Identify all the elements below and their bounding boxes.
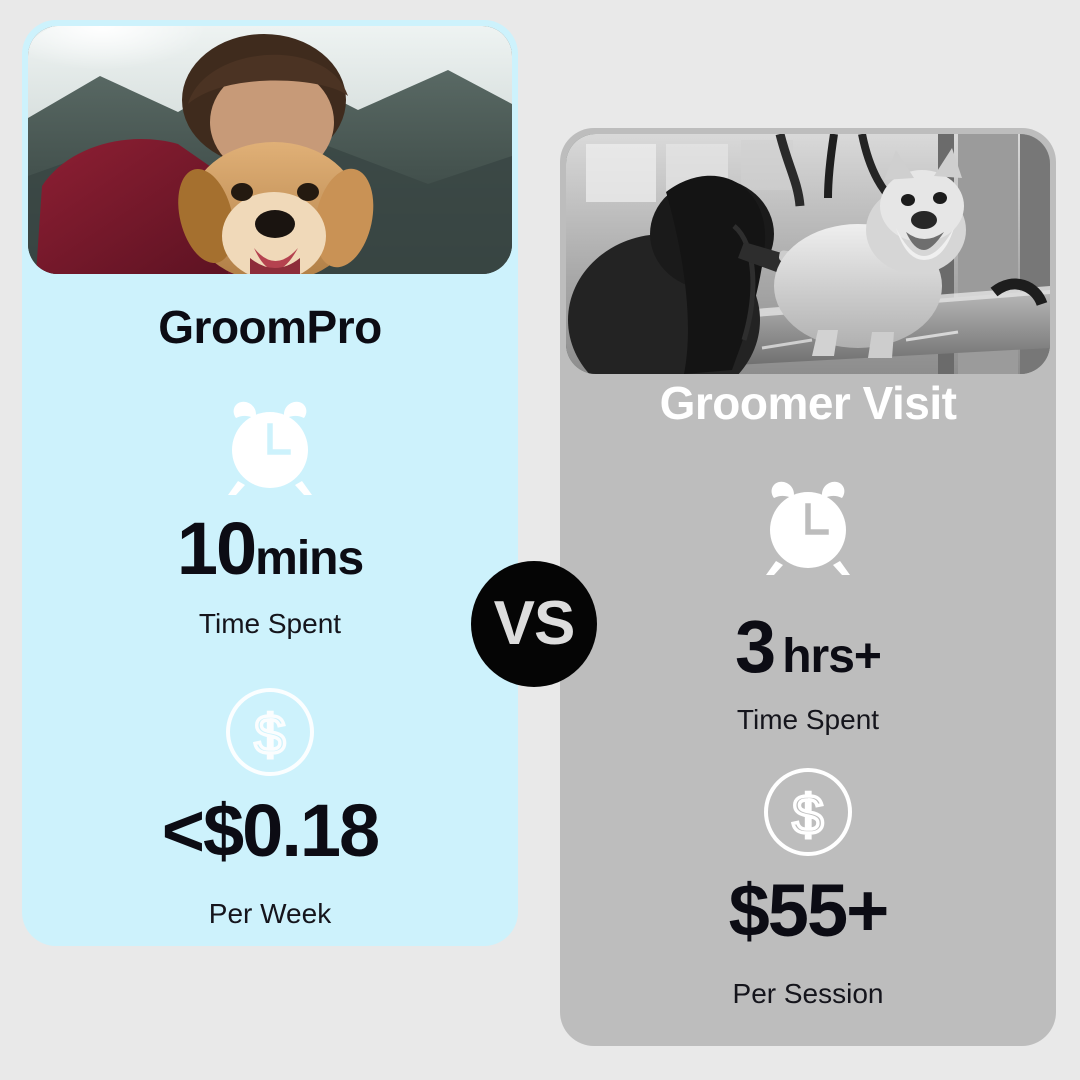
- stat-unit-time-left: mins: [255, 532, 363, 585]
- stat-number-time-right: 3: [735, 605, 774, 688]
- product-card-groompro: GroomPro 10mins Time Spent $: [22, 20, 518, 946]
- product-card-groomer-visit: Groomer Visit 3hrs+ Time Spent $: [560, 128, 1056, 1046]
- card-title-groompro: GroomPro: [22, 304, 518, 350]
- stat-number-cost-left: <$0.18: [162, 789, 378, 872]
- dollar-circle-icon: $: [560, 764, 1056, 860]
- svg-text:$: $: [792, 783, 823, 846]
- stat-value-time-left: 10mins: [22, 512, 518, 586]
- stat-label-time-left: Time Spent: [22, 610, 518, 638]
- vs-badge-label: VS: [494, 593, 575, 655]
- stat-number-cost-right: $55+: [729, 869, 888, 952]
- alarm-clock-icon: [560, 476, 1056, 578]
- alarm-clock-icon: [22, 396, 518, 498]
- dollar-circle-icon: $: [22, 684, 518, 780]
- stat-label-cost-left: Per Week: [22, 900, 518, 928]
- stat-label-cost-right: Per Session: [560, 980, 1056, 1008]
- stat-value-cost-left: <$0.18: [22, 794, 518, 868]
- photo-groomer-trimming-terrier: [566, 134, 1050, 374]
- card-title-groomer-visit: Groomer Visit: [560, 380, 1056, 426]
- svg-text:$: $: [254, 703, 285, 766]
- stat-value-time-right: 3hrs+: [560, 610, 1056, 684]
- vs-circle-badge: VS: [471, 561, 597, 687]
- stat-number-time-left: 10: [177, 507, 255, 590]
- stat-label-time-right: Time Spent: [560, 706, 1056, 734]
- stat-value-cost-right: $55+: [560, 874, 1056, 948]
- stat-unit-time-right: hrs+: [782, 630, 881, 683]
- comparison-infographic: GroomPro 10mins Time Spent $: [0, 0, 1080, 1080]
- photo-man-hugging-golden-dog: [28, 26, 512, 274]
